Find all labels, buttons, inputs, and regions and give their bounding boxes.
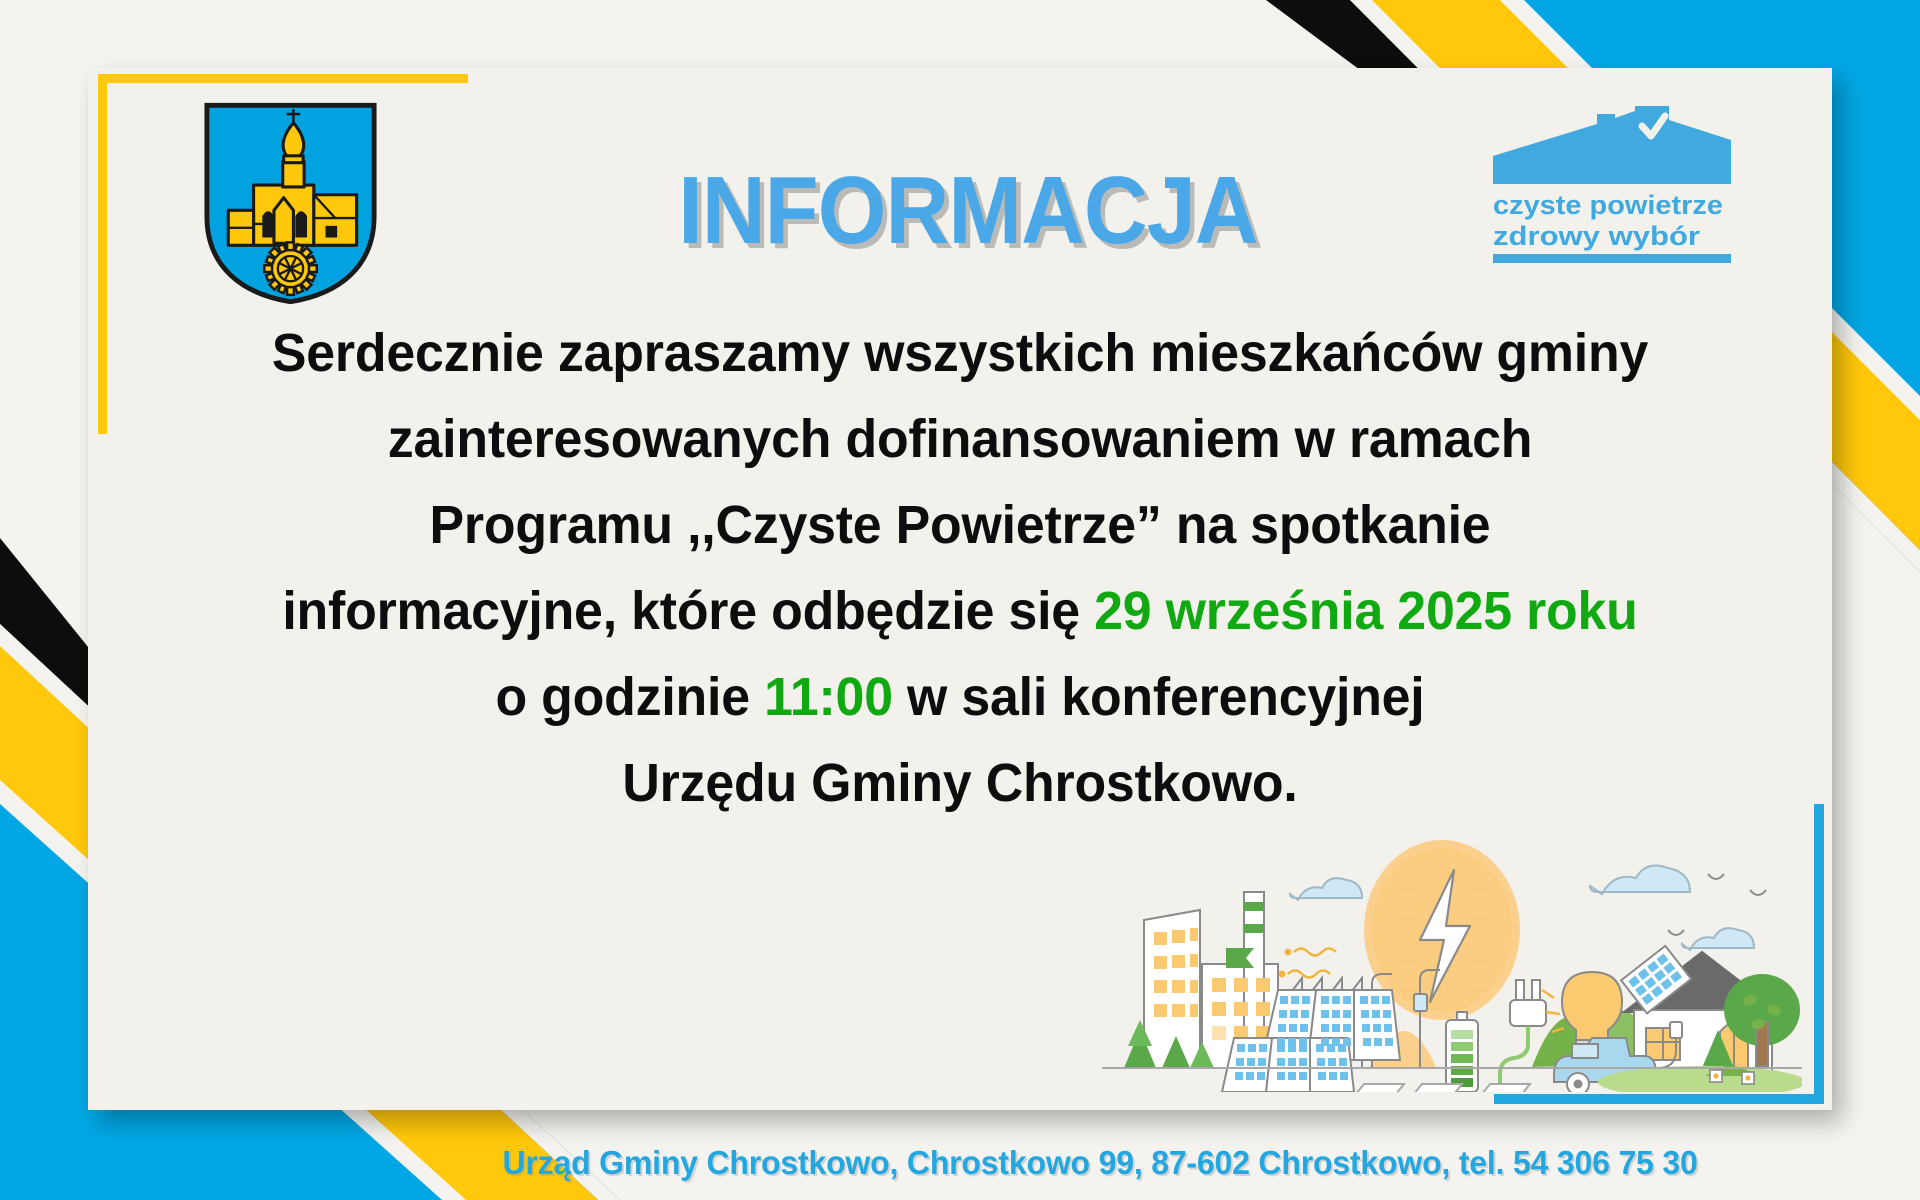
page-title: INFORMACJA: [618, 163, 1317, 259]
text-line-5: o godzinie 11:00 w sali konferencyjnej: [123, 654, 1797, 740]
battery-icon: [1446, 1012, 1478, 1092]
text-line-2: zainteresowanych dofinansowaniem w ramac…: [123, 396, 1797, 482]
poster-header: INFORMACJA czyste powietrze zdrowy wybór: [88, 68, 1832, 318]
green-energy-illustration: [1102, 832, 1802, 1092]
text-line-5-prefix: o godzinie: [495, 667, 764, 727]
text-line-6: Urzędu Gminy Chrostkowo.: [123, 740, 1797, 826]
poster-root: INFORMACJA czyste powietrze zdrowy wybór: [0, 0, 1920, 1200]
text-line-4-prefix: informacyjne, które odbędzie się: [282, 581, 1094, 641]
event-time: 11:00: [764, 667, 893, 727]
accent-bar-blue-vertical: [1814, 804, 1824, 1104]
logo-line1: czyste powietrze: [1493, 190, 1723, 220]
text-line-4: informacyjne, które odbędzie się 29 wrze…: [123, 568, 1797, 654]
footer-contact-text: Urząd Gminy Chrostkowo, Chrostkowo 99, 8…: [502, 1144, 1697, 1182]
logo-underline: [1493, 254, 1731, 263]
czyste-powietrze-logo: czyste powietrze zdrowy wybór: [1487, 106, 1737, 266]
text-line-5-suffix: w sali konferencyjnej: [893, 667, 1425, 727]
announcement-text: Serdecznie zapraszamy wszystkich mieszka…: [88, 310, 1832, 826]
poster-card: INFORMACJA czyste powietrze zdrowy wybór: [88, 68, 1832, 1110]
accent-bar-blue-horizontal: [1494, 1094, 1824, 1104]
coat-of-arms-icon: [203, 101, 378, 306]
footer-contact: Urząd Gminy Chrostkowo, Chrostkowo 99, 8…: [0, 1144, 1920, 1182]
text-line-1: Serdecznie zapraszamy wszystkich mieszka…: [123, 310, 1797, 396]
paving-stones: [1356, 1084, 1530, 1092]
event-date: 29 września 2025 roku: [1094, 581, 1637, 641]
cloud-icon: [1290, 866, 1754, 950]
text-line-3: Programu ,,Czyste Powietrze” na spotkani…: [123, 482, 1797, 568]
logo-line2: zdrowy wybór: [1493, 221, 1701, 251]
plug-icon: [1500, 980, 1546, 1088]
